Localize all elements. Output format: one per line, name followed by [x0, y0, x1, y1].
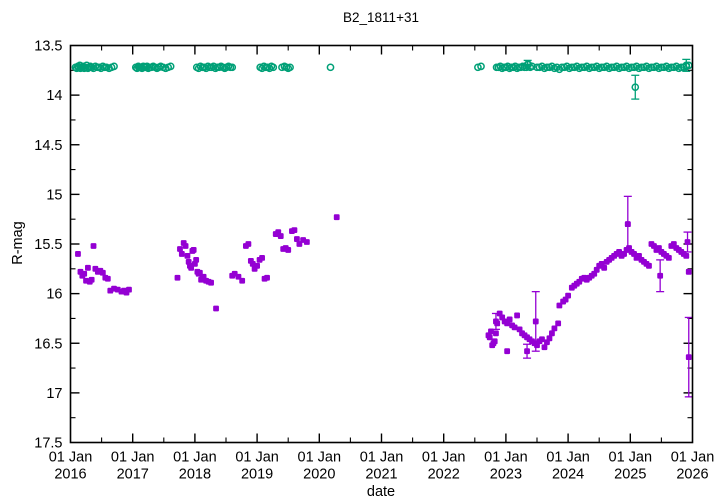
- data-point: [539, 336, 545, 342]
- data-point: [565, 293, 571, 299]
- data-point: [91, 243, 97, 249]
- data-point: [685, 239, 691, 245]
- data-point: [191, 247, 197, 253]
- y-tick-label: 16: [46, 287, 62, 303]
- x-tick-label-year: 2019: [241, 467, 273, 483]
- x-tick-label-year: 2023: [490, 467, 522, 483]
- plot-figure: B2_1811+31 R-mag date 13.51414.51515.516…: [0, 0, 720, 504]
- data-point: [507, 317, 513, 323]
- data-point: [278, 233, 284, 239]
- data-point: [552, 325, 558, 331]
- data-point: [492, 338, 498, 344]
- y-tick-label: 13.5: [34, 39, 62, 55]
- x-axis-label: date: [367, 484, 395, 500]
- data-point: [601, 265, 607, 271]
- chart-svg: B2_1811+31 R-mag date 13.51414.51515.516…: [0, 0, 720, 504]
- x-tick-label-day: 01 Jan: [235, 450, 279, 466]
- x-tick-label-year: 2026: [676, 467, 708, 483]
- data-point: [126, 287, 132, 293]
- data-point: [555, 321, 561, 327]
- x-tick-label-day: 01 Jan: [484, 450, 528, 466]
- x-tick-label-day: 01 Jan: [609, 450, 653, 466]
- x-tick-label-year: 2022: [428, 467, 460, 483]
- y-tick-label: 17: [46, 386, 62, 402]
- data-point: [175, 275, 181, 281]
- data-point: [625, 221, 631, 227]
- x-tick-label-day: 01 Jan: [671, 450, 715, 466]
- data-point: [547, 335, 553, 341]
- data-point: [646, 263, 652, 269]
- x-tick-label-year: 2024: [552, 467, 584, 483]
- x-tick-label-day: 01 Jan: [546, 450, 590, 466]
- data-point: [100, 270, 106, 276]
- x-tick-label-year: 2017: [117, 467, 149, 483]
- data-point: [177, 246, 183, 252]
- x-tick-label-year: 2020: [303, 467, 335, 483]
- data-point: [334, 214, 340, 220]
- y-tick-label: 16.5: [34, 336, 62, 352]
- data-point: [75, 251, 81, 257]
- data-point: [259, 255, 265, 261]
- x-tick-label-year: 2018: [179, 467, 211, 483]
- data-point: [683, 253, 689, 259]
- data-point: [183, 243, 189, 249]
- data-point: [105, 276, 111, 282]
- data-point: [239, 278, 245, 284]
- y-tick-label: 14: [46, 88, 62, 104]
- data-point: [487, 334, 493, 340]
- data-point: [493, 330, 499, 336]
- data-point: [512, 324, 518, 330]
- data-point: [549, 330, 555, 336]
- data-point: [542, 344, 548, 350]
- x-tick-label-day: 01 Jan: [360, 450, 404, 466]
- x-tick-label-year: 2025: [614, 467, 646, 483]
- x-tick-label-day: 01 Jan: [422, 450, 466, 466]
- data-point: [213, 306, 219, 312]
- data-point: [294, 236, 300, 242]
- y-tick-label: 15.5: [34, 237, 62, 253]
- data-point: [533, 319, 539, 325]
- y-axis-label: R-mag: [10, 221, 26, 265]
- data-point: [208, 280, 214, 286]
- data-point: [488, 328, 494, 334]
- data-point: [292, 227, 298, 233]
- chart-background: [0, 0, 720, 504]
- data-point: [89, 277, 95, 283]
- chart-title: B2_1811+31: [343, 10, 419, 25]
- data-point: [514, 313, 520, 319]
- data-point: [285, 247, 291, 253]
- data-point: [81, 271, 87, 277]
- y-tick-label: 14.5: [34, 138, 62, 154]
- data-point: [193, 257, 199, 263]
- data-point: [493, 319, 499, 325]
- data-point: [504, 348, 510, 354]
- data-point: [185, 253, 191, 259]
- x-tick-label-day: 01 Jan: [173, 450, 217, 466]
- x-tick-label-day: 01 Jan: [49, 450, 93, 466]
- x-tick-label-year: 2021: [365, 467, 397, 483]
- data-point: [524, 348, 530, 354]
- x-tick-label-day: 01 Jan: [298, 450, 342, 466]
- y-tick-label: 15: [46, 187, 62, 203]
- data-point: [304, 239, 310, 245]
- data-point: [686, 269, 692, 275]
- data-point: [179, 251, 185, 257]
- x-tick-label-day: 01 Jan: [111, 450, 155, 466]
- data-point: [666, 255, 672, 261]
- data-point: [254, 263, 260, 269]
- data-point: [245, 241, 251, 247]
- data-point: [264, 275, 270, 281]
- data-point: [85, 265, 91, 271]
- data-point: [657, 273, 663, 279]
- data-point: [686, 354, 692, 360]
- x-tick-label-year: 2016: [54, 467, 86, 483]
